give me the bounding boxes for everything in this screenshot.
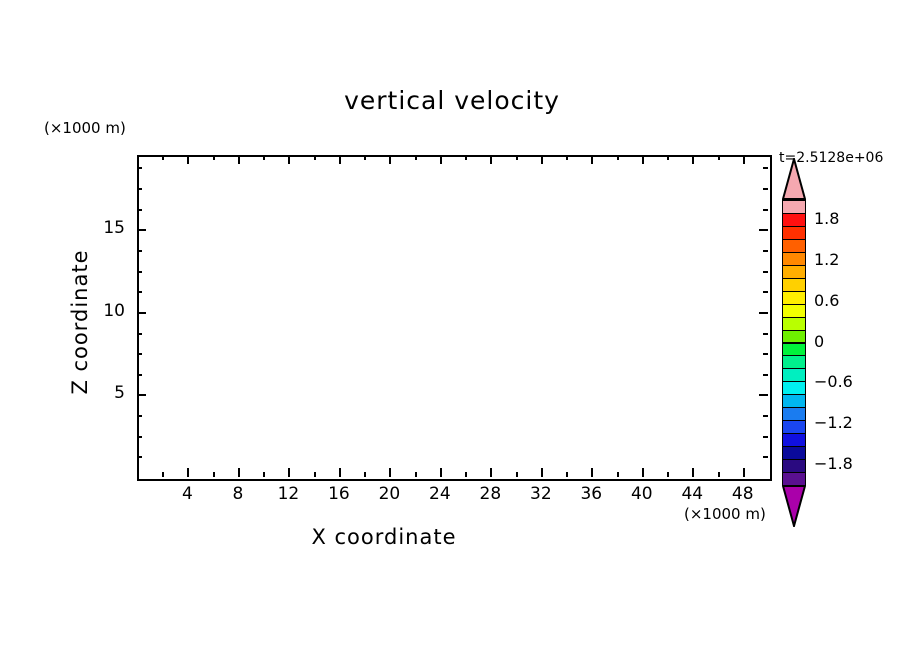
y-tick-right xyxy=(763,188,768,190)
colorbar-cell xyxy=(782,472,806,486)
x-minor-tick xyxy=(364,472,366,477)
y-tick-right xyxy=(759,312,768,314)
x-tick-top xyxy=(213,155,215,160)
x-tick-label: 44 xyxy=(667,484,717,504)
x-major-tick xyxy=(187,468,189,477)
colorbar-cell xyxy=(782,330,806,344)
colorbar xyxy=(782,200,806,485)
y-tick-label: 10 xyxy=(77,301,125,321)
colorbar-cell xyxy=(782,446,806,460)
colorbar-cell xyxy=(782,381,806,395)
x-major-tick xyxy=(490,468,492,477)
y-tick-right xyxy=(763,353,768,355)
y-minor-tick xyxy=(137,250,142,252)
vertical-velocity-figure: vertical velocity (×1000 m) (×1000 m) t=… xyxy=(0,0,904,654)
x-minor-tick xyxy=(263,472,265,477)
x-minor-tick xyxy=(465,472,467,477)
y-tick-right xyxy=(763,250,768,252)
colorbar-cell xyxy=(782,459,806,473)
y-major-tick xyxy=(137,229,146,231)
x-minor-tick xyxy=(213,472,215,477)
x-minor-tick xyxy=(617,472,619,477)
y-minor-tick xyxy=(137,271,142,273)
x-major-tick xyxy=(389,468,391,477)
x-tick-top xyxy=(743,155,745,164)
y-tick-right xyxy=(763,333,768,335)
x-tick-top xyxy=(314,155,316,160)
velocity-field-heatmap xyxy=(139,157,770,479)
x-tick-top xyxy=(718,155,720,160)
x-tick-label: 16 xyxy=(314,484,364,504)
x-tick-top xyxy=(465,155,467,160)
y-tick-right xyxy=(759,394,768,396)
z-axis-units-label: (×1000 m) xyxy=(44,119,126,137)
y-tick-right xyxy=(763,415,768,417)
x-minor-tick xyxy=(566,472,568,477)
x-major-tick xyxy=(692,468,694,477)
x-major-tick xyxy=(238,468,240,477)
x-tick-top xyxy=(566,155,568,160)
x-major-tick xyxy=(440,468,442,477)
x-tick-label: 32 xyxy=(516,484,566,504)
x-tick-top xyxy=(263,155,265,160)
x-minor-tick xyxy=(667,472,669,477)
colorbar-cell xyxy=(782,239,806,253)
x-tick-top xyxy=(440,155,442,164)
x-tick-label: 36 xyxy=(566,484,616,504)
y-minor-tick xyxy=(137,456,142,458)
colorbar-tick-label: 1.2 xyxy=(814,250,839,269)
x-major-tick xyxy=(642,468,644,477)
x-minor-tick xyxy=(314,472,316,477)
x-tick-label: 4 xyxy=(162,484,212,504)
colorbar-cells xyxy=(782,200,806,485)
y-tick-right xyxy=(763,209,768,211)
y-tick-right xyxy=(759,229,768,231)
x-tick-top xyxy=(389,155,391,164)
colorbar-cell xyxy=(782,433,806,447)
y-minor-tick xyxy=(137,333,142,335)
colorbar-cell xyxy=(782,394,806,408)
y-tick-label: 15 xyxy=(77,218,125,238)
y-tick-right xyxy=(763,291,768,293)
colorbar-cell xyxy=(782,291,806,305)
y-tick-right xyxy=(763,167,768,169)
colorbar-cell xyxy=(782,200,806,214)
y-minor-tick xyxy=(137,436,142,438)
x-tick-label: 12 xyxy=(263,484,313,504)
colorbar-cell xyxy=(782,407,806,421)
colorbar-tick-label: −1.8 xyxy=(814,454,853,473)
chart-title: vertical velocity xyxy=(0,86,904,115)
x-tick-top xyxy=(541,155,543,164)
x-minor-tick xyxy=(415,472,417,477)
x-major-tick xyxy=(591,468,593,477)
y-minor-tick xyxy=(137,209,142,211)
colorbar-cell xyxy=(782,304,806,318)
colorbar-tick-label: 0 xyxy=(814,332,824,351)
colorbar-cell xyxy=(782,317,806,331)
x-axis-title: X coordinate xyxy=(0,525,768,549)
x-tick-label: 48 xyxy=(718,484,768,504)
y-minor-tick xyxy=(137,353,142,355)
x-tick-label: 28 xyxy=(465,484,515,504)
x-tick-label: 40 xyxy=(617,484,667,504)
x-tick-top xyxy=(288,155,290,164)
colorbar-tick-label: −1.2 xyxy=(814,413,853,432)
y-tick-right xyxy=(763,436,768,438)
x-tick-top xyxy=(591,155,593,164)
colorbar-cell xyxy=(782,343,806,357)
y-tick-label: 5 xyxy=(77,383,125,403)
x-tick-top xyxy=(617,155,619,160)
x-major-tick xyxy=(743,468,745,477)
colorbar-cell xyxy=(782,355,806,369)
y-minor-tick xyxy=(137,167,142,169)
y-tick-right xyxy=(763,271,768,273)
x-tick-top xyxy=(692,155,694,164)
y-minor-tick xyxy=(137,188,142,190)
x-axis-units-label: (×1000 m) xyxy=(684,505,766,523)
y-minor-tick xyxy=(137,291,142,293)
x-tick-top xyxy=(339,155,341,164)
colorbar-cell xyxy=(782,252,806,266)
x-minor-tick xyxy=(516,472,518,477)
x-major-tick xyxy=(541,468,543,477)
y-major-tick xyxy=(137,394,146,396)
colorbar-over-arrow xyxy=(782,158,806,200)
x-tick-top xyxy=(187,155,189,164)
y-minor-tick xyxy=(137,415,142,417)
colorbar-cell xyxy=(782,265,806,279)
x-tick-top xyxy=(364,155,366,160)
x-tick-top xyxy=(642,155,644,164)
x-minor-tick xyxy=(162,472,164,477)
colorbar-cell xyxy=(782,226,806,240)
x-tick-top xyxy=(415,155,417,160)
colorbar-tick-label: 1.8 xyxy=(814,209,839,228)
y-tick-right xyxy=(763,456,768,458)
x-major-tick xyxy=(288,468,290,477)
colorbar-cell xyxy=(782,368,806,382)
colorbar-tick-label: −0.6 xyxy=(814,372,853,391)
colorbar-cell xyxy=(782,278,806,292)
x-tick-top xyxy=(162,155,164,160)
x-tick-top xyxy=(238,155,240,164)
y-major-tick xyxy=(137,312,146,314)
colorbar-cell xyxy=(782,420,806,434)
colorbar-tick-label: 0.6 xyxy=(814,291,839,310)
x-tick-top xyxy=(667,155,669,160)
x-tick-label: 8 xyxy=(213,484,263,504)
x-minor-tick xyxy=(718,472,720,477)
x-major-tick xyxy=(339,468,341,477)
plot-area xyxy=(137,155,772,481)
y-tick-right xyxy=(763,374,768,376)
x-tick-label: 24 xyxy=(415,484,465,504)
colorbar-under-arrow xyxy=(782,485,806,527)
x-tick-top xyxy=(516,155,518,160)
y-minor-tick xyxy=(137,374,142,376)
x-tick-label: 20 xyxy=(364,484,414,504)
x-tick-top xyxy=(490,155,492,164)
colorbar-cell xyxy=(782,213,806,227)
